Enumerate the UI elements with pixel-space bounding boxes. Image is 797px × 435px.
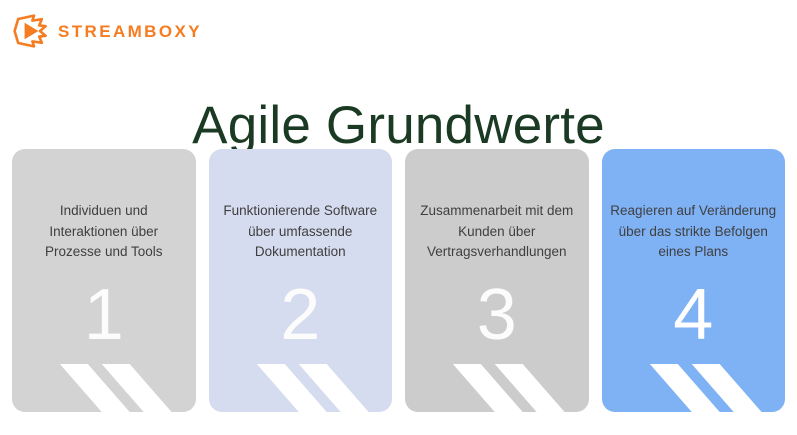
value-card-text: Funktionierende Software über umfassende…	[217, 201, 385, 263]
value-card-number: 2	[209, 279, 393, 351]
brand-logo[interactable]: STREAMBOXY	[12, 13, 202, 49]
value-card-1[interactable]: Individuen und Interaktionen über Prozes…	[12, 149, 196, 412]
value-card-text: Zusammenarbeit mit dem Kunden über Vertr…	[413, 201, 581, 263]
diagonal-stripes-decoration-icon	[405, 350, 589, 412]
value-card-3[interactable]: Zusammenarbeit mit dem Kunden über Vertr…	[405, 149, 589, 412]
value-card-4[interactable]: Reagieren auf Veränderung über das strik…	[602, 149, 786, 412]
value-card-text: Reagieren auf Veränderung über das strik…	[610, 201, 778, 263]
value-card-text: Individuen und Interaktionen über Prozes…	[20, 201, 188, 263]
value-card-number: 4	[602, 279, 786, 351]
value-card-row: Individuen und Interaktionen über Prozes…	[12, 149, 785, 412]
brand-name: STREAMBOXY	[58, 23, 202, 40]
diagonal-stripes-decoration-icon	[209, 350, 393, 412]
streamboxy-hexagon-play-logo-icon	[12, 13, 48, 49]
page-title: Agile Grundwerte	[0, 98, 797, 154]
value-card-number: 1	[12, 279, 196, 351]
diagonal-stripes-decoration-icon	[12, 350, 196, 412]
diagonal-stripes-decoration-icon	[602, 350, 786, 412]
value-card-2[interactable]: Funktionierende Software über umfassende…	[209, 149, 393, 412]
value-card-number: 3	[405, 279, 589, 351]
